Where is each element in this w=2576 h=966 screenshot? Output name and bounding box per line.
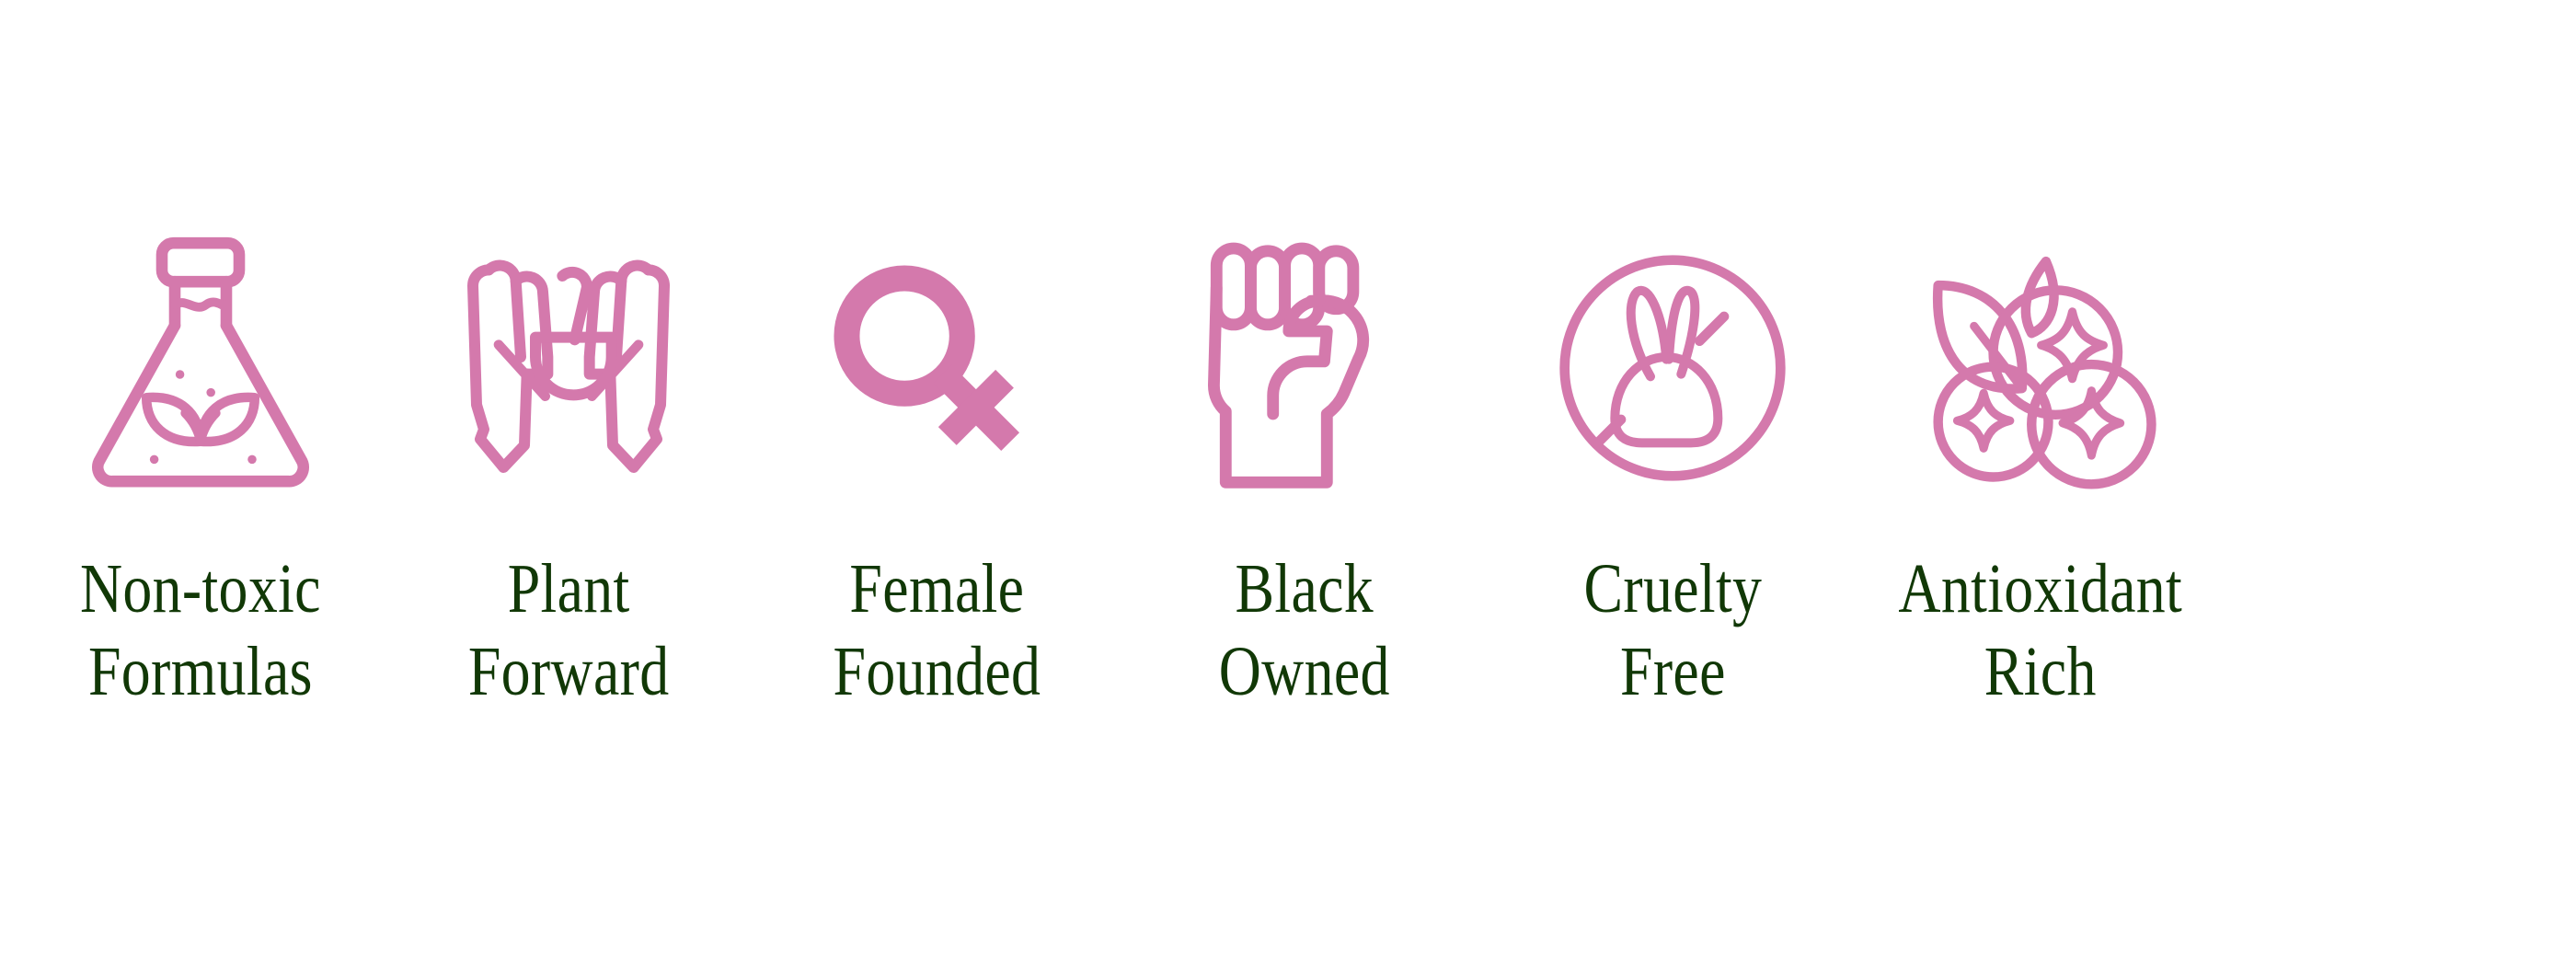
badge-label-line-2: Forward (468, 631, 670, 714)
no-rabbit-crossed-circle-icon (1544, 230, 1801, 506)
badge-label-line-1: Plant (468, 548, 670, 631)
hands-holding-mortar-pestle-icon (440, 230, 697, 506)
badge-item-black-owned: Black Owned (1121, 230, 1489, 713)
brand-values-badge-strip: Non-toxic Formulas (0, 0, 2576, 966)
raised-fist-icon (1176, 230, 1433, 506)
badge-item-cruelty-free: Cruelty Free (1489, 230, 1857, 713)
badge-label-line-2: Founded (833, 631, 1041, 714)
berries-sparkle-leaves-icon (1912, 230, 2169, 506)
badge-label-line-2: Formulas (80, 631, 321, 714)
badge-label: Cruelty Free (1583, 548, 1762, 713)
badge-label-line-1: Non-toxic (80, 548, 321, 631)
female-venus-symbol-icon (808, 230, 1065, 506)
badge-label-line-1: Antioxidant (1899, 548, 2183, 631)
badge-label: Female Founded (833, 548, 1041, 713)
badge-label: Non-toxic Formulas (80, 548, 321, 713)
badge-label-line-2: Owned (1219, 631, 1390, 714)
badge-label: Antioxidant Rich (1899, 548, 2183, 713)
badge-item-plant-forward: Plant Forward (385, 230, 753, 713)
badge-label: Black Owned (1219, 548, 1390, 713)
badge-label-line-1: Female (833, 548, 1041, 631)
badge-item-female-founded: Female Founded (753, 230, 1121, 713)
flask-plant-icon (72, 230, 329, 506)
badge-item-non-toxic-formulas: Non-toxic Formulas (17, 230, 385, 713)
badge-item-antioxidant-rich: Antioxidant Rich (1857, 230, 2225, 713)
badge-label-line-1: Black (1219, 548, 1390, 631)
badge-label-line-2: Rich (1899, 631, 2183, 714)
badge-label-line-2: Free (1583, 631, 1762, 714)
badge-label: Plant Forward (468, 548, 670, 713)
badge-label-line-1: Cruelty (1583, 548, 1762, 631)
